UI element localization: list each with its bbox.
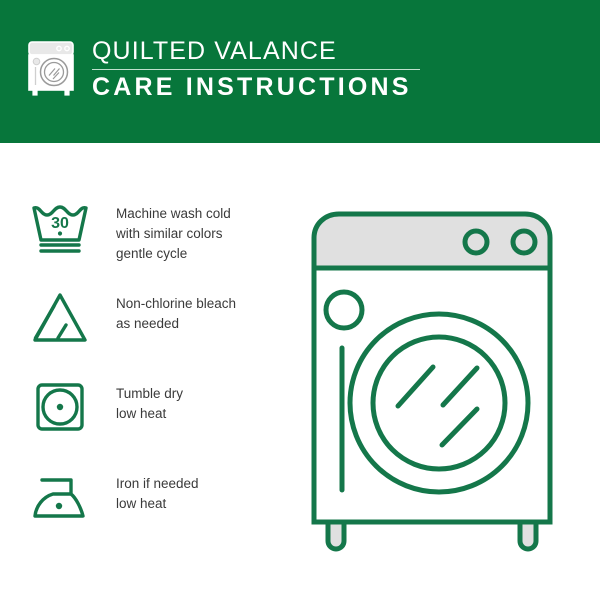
drum-inner-circle [373,337,505,469]
care-text-iron: Iron if needed low heat [116,466,199,514]
leg-right [520,522,536,549]
iron-low-heat-icon [28,466,92,530]
header-content: QUILTED VALANCE CARE INSTRUCTIONS [26,38,420,101]
front-load-washing-machine-illustration [296,200,568,560]
care-text-wash: Machine wash cold with similar colors ge… [116,196,231,264]
care-row-bleach: Non-chlorine bleach as needed [28,286,278,376]
wash-temperature-label: 30 [51,215,69,232]
dispenser-icon [326,292,362,328]
non-chlorine-bleach-triangle-icon [28,286,92,350]
tumble-dry-low-icon [28,376,92,440]
wash-tub-30-gentle-icon: 30 [28,196,92,260]
care-row-iron: Iron if needed low heat [28,466,278,556]
care-text-bleach: Non-chlorine bleach as needed [116,286,236,334]
care-instruction-list: 30 Machine wash cold with similar colors… [28,196,278,556]
header-title-block: QUILTED VALANCE CARE INSTRUCTIONS [92,38,420,101]
page-header: QUILTED VALANCE CARE INSTRUCTIONS [0,0,600,143]
dial-right-icon [513,231,535,253]
washing-machine-icon [26,40,76,98]
care-instructions-page: QUILTED VALANCE CARE INSTRUCTIONS 30 [0,0,600,600]
care-row-wash: 30 Machine wash cold with similar colors… [28,196,278,286]
title-divider [92,69,420,70]
dial-left-icon [465,231,487,253]
page-subtitle: CARE INSTRUCTIONS [92,74,420,100]
leg-left [328,522,344,549]
care-text-dry: Tumble dry low heat [116,376,183,424]
care-row-dry: Tumble dry low heat [28,376,278,466]
page-title: QUILTED VALANCE [92,38,420,64]
